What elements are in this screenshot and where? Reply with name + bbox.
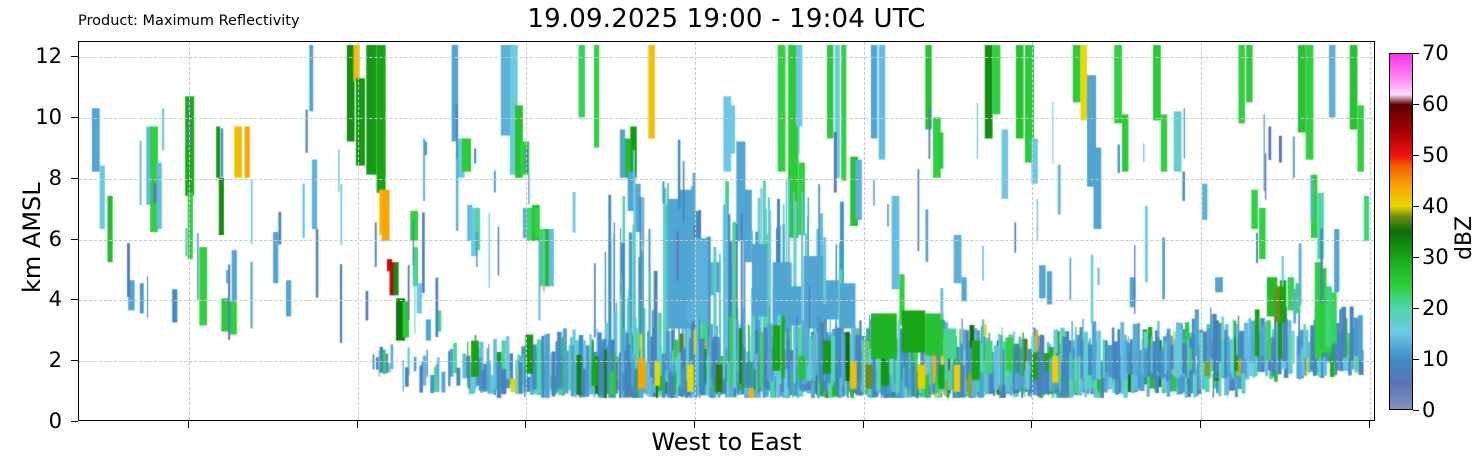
x-tick bbox=[525, 421, 526, 428]
plot-area bbox=[78, 41, 1375, 421]
y-tick-label: 2 bbox=[6, 348, 62, 372]
x-tick bbox=[1031, 421, 1032, 428]
colorbar-tick-label: 20 bbox=[1422, 296, 1449, 320]
x-tick bbox=[188, 421, 189, 428]
y-tick bbox=[71, 239, 78, 240]
y-tick bbox=[71, 360, 78, 361]
colorbar-tick-label: 50 bbox=[1422, 143, 1449, 167]
page-title: 19.09.2025 19:00 - 19:04 UTC bbox=[78, 4, 1375, 34]
x-tick bbox=[694, 421, 695, 428]
y-tick bbox=[71, 299, 78, 300]
colorbar-tick bbox=[1413, 410, 1419, 411]
x-tick bbox=[863, 421, 864, 428]
colorbar-tick-label: 70 bbox=[1422, 41, 1449, 65]
y-tick bbox=[71, 56, 78, 57]
x-tick bbox=[357, 421, 358, 428]
y-tick-label: 10 bbox=[6, 105, 62, 129]
radar-cross-section-figure: Product: Maximum Reflectivity 19.09.2025… bbox=[0, 0, 1482, 470]
colorbar-tick-label: 10 bbox=[1422, 347, 1449, 371]
colorbar-gradient bbox=[1390, 54, 1412, 409]
colorbar-tick bbox=[1413, 308, 1419, 309]
colorbar-tick bbox=[1413, 206, 1419, 207]
colorbar-tick bbox=[1413, 257, 1419, 258]
colorbar-tick-label: 60 bbox=[1422, 92, 1449, 116]
y-tick bbox=[71, 117, 78, 118]
y-tick-label: 12 bbox=[6, 44, 62, 68]
colorbar-tick bbox=[1413, 359, 1419, 360]
colorbar-tick-label: 30 bbox=[1422, 245, 1449, 269]
colorbar-tick bbox=[1413, 53, 1419, 54]
y-tick bbox=[71, 421, 78, 422]
y-tick-label: 0 bbox=[6, 409, 62, 433]
colorbar-tick bbox=[1413, 104, 1419, 105]
reflectivity-heatmap bbox=[79, 42, 1373, 419]
y-axis-label: km AMSL bbox=[18, 182, 46, 293]
x-tick bbox=[1200, 421, 1201, 428]
x-tick bbox=[1369, 421, 1370, 428]
colorbar-tick-label: 40 bbox=[1422, 194, 1449, 218]
x-axis-label: West to East bbox=[78, 428, 1375, 456]
colorbar bbox=[1389, 53, 1413, 410]
y-tick bbox=[71, 178, 78, 179]
colorbar-label: dBZ bbox=[1452, 215, 1477, 259]
colorbar-tick-label: 0 bbox=[1422, 398, 1435, 422]
colorbar-tick bbox=[1413, 155, 1419, 156]
